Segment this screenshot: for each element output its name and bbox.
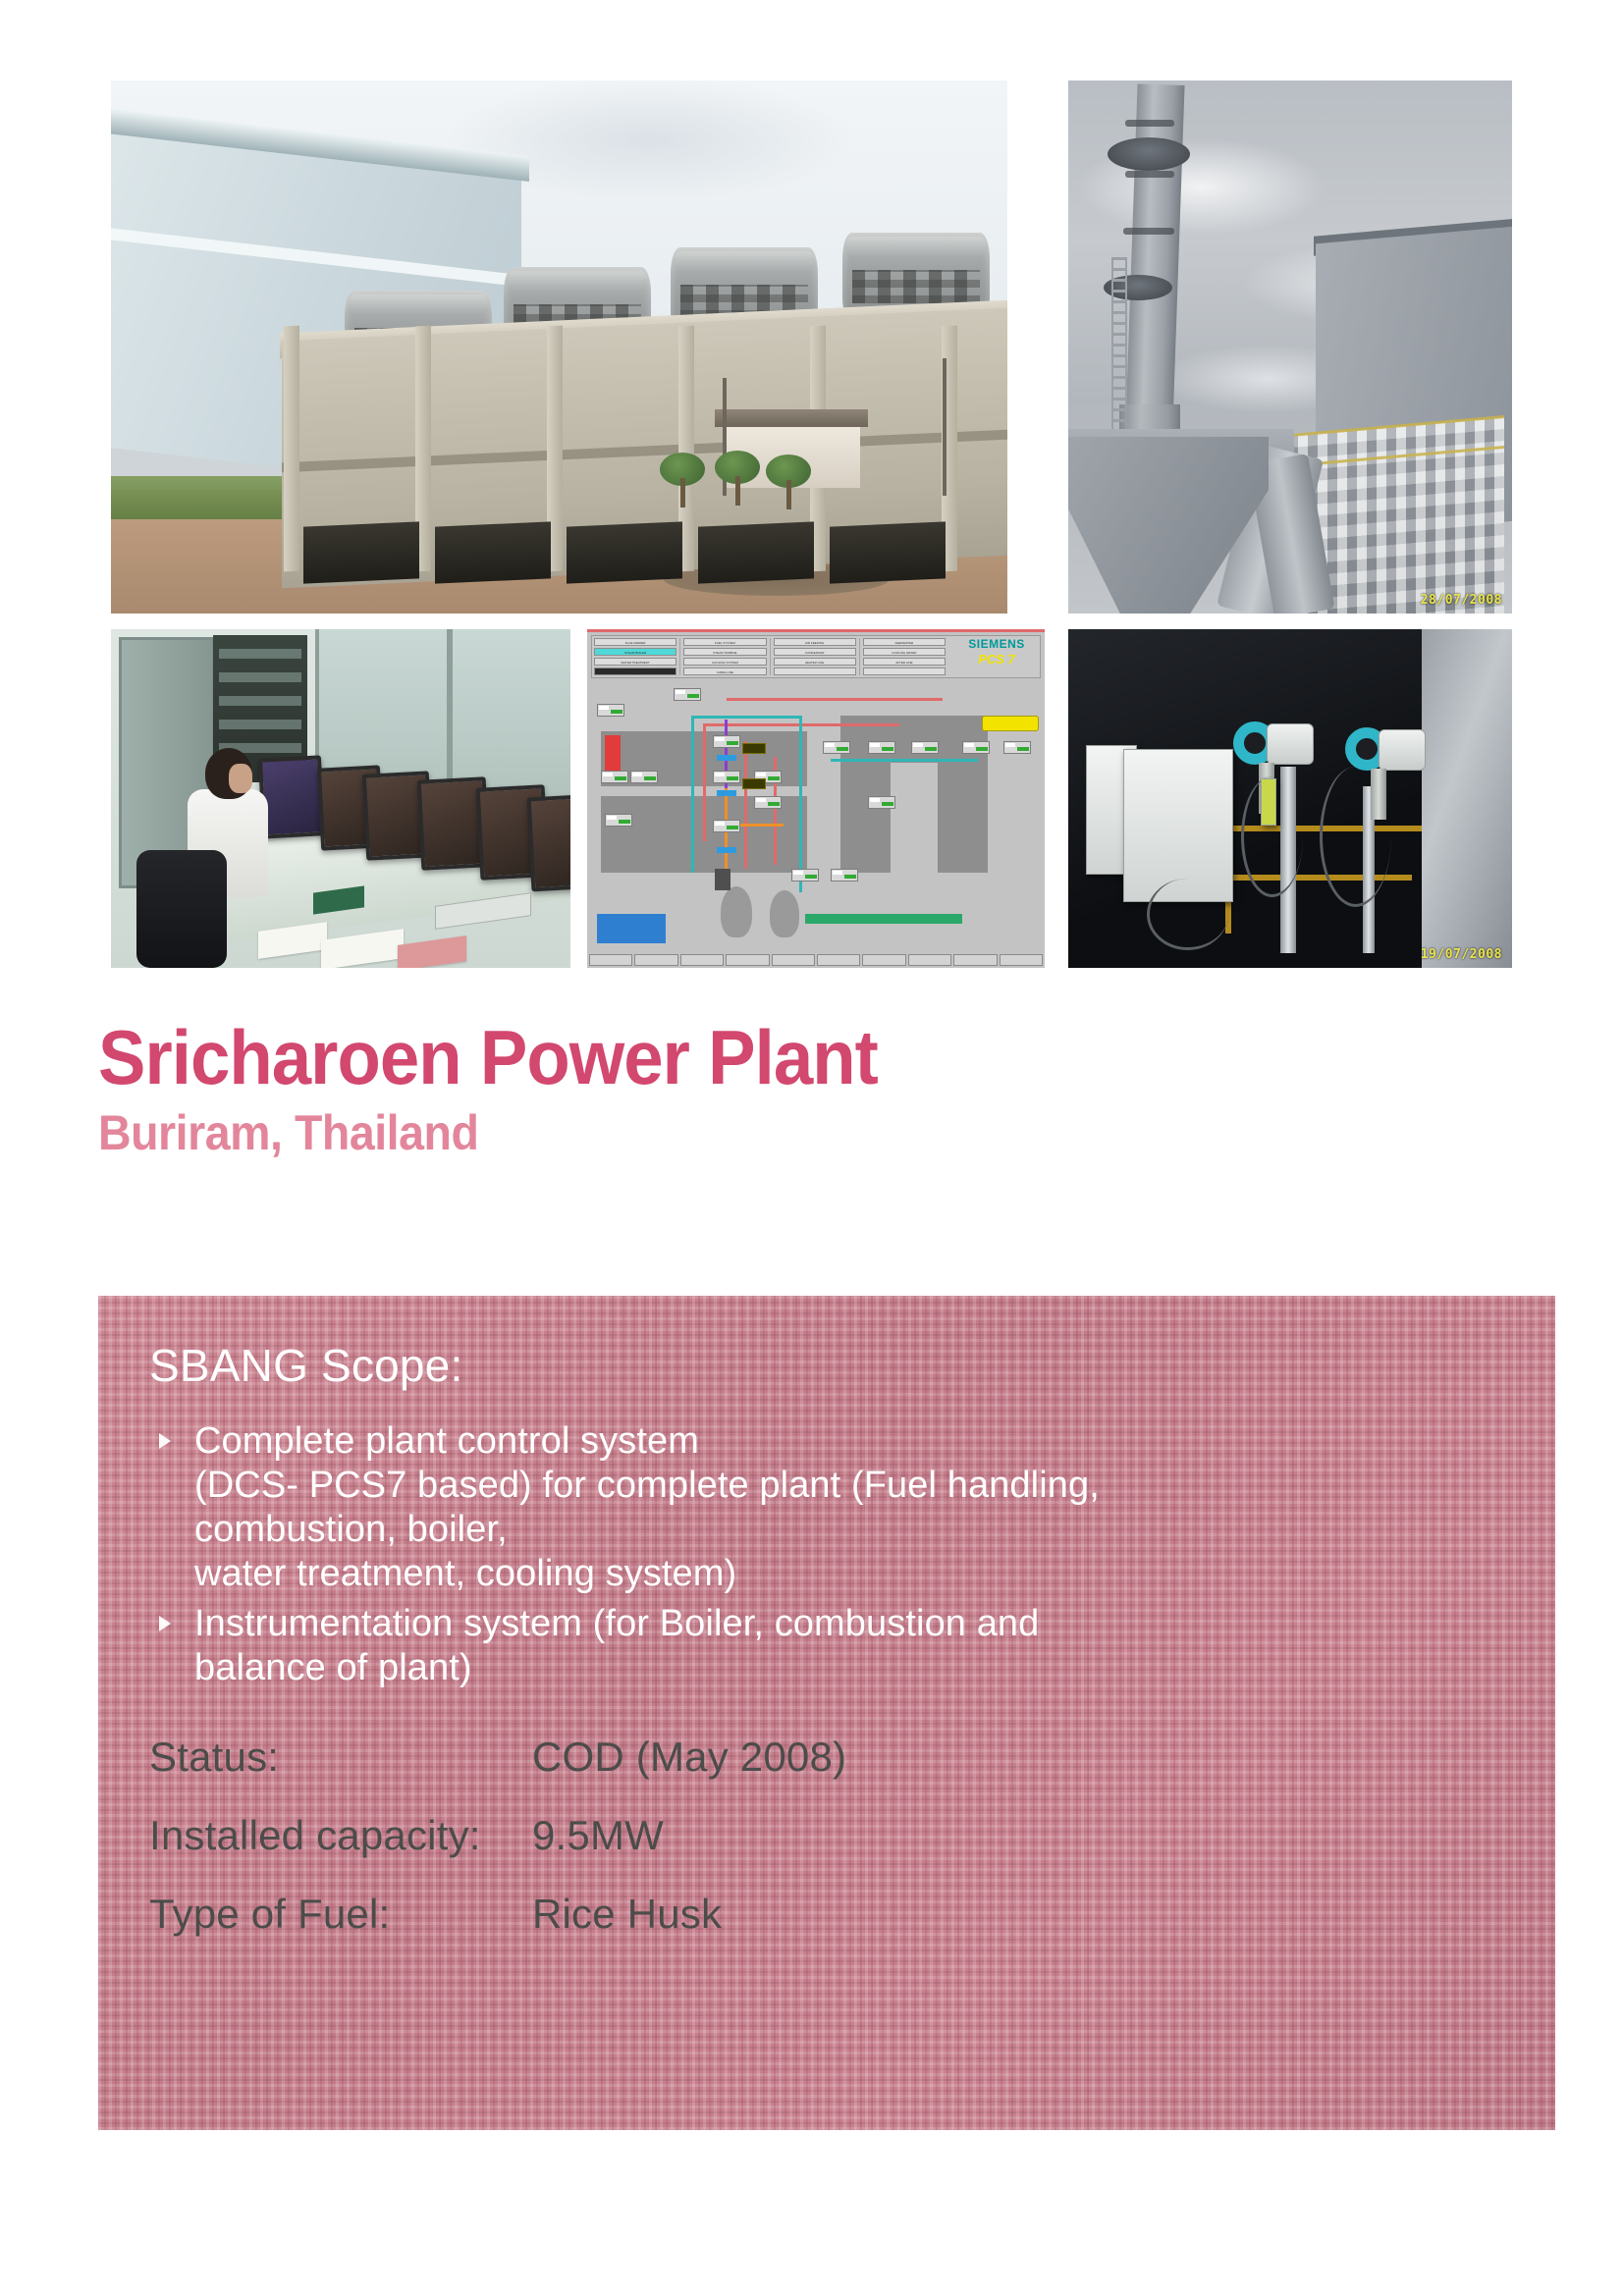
hmi-tag[interactable] <box>911 741 939 754</box>
hmi-pipe-teal-1 <box>691 716 694 873</box>
fact-value: 9.5MW <box>532 1812 664 1859</box>
scope-bullet-2: Instrumentation system (for Boiler, comb… <box>149 1602 1504 1690</box>
hmi-nav-button[interactable]: CABLE LINE <box>683 667 766 675</box>
stack-photo: 28/07/2008 <box>1068 80 1512 614</box>
cooling-tower-photo <box>111 80 1007 614</box>
hmi-tag[interactable] <box>713 820 740 832</box>
hmi-valve-indicator <box>717 755 736 761</box>
hmi-tag[interactable] <box>823 741 850 754</box>
siemens-branding: SIEMENS PCS 7 <box>954 637 1039 667</box>
fact-label: Installed capacity: <box>149 1812 532 1859</box>
scope-bullet-list: Complete plant control system (DCS- PCS7… <box>149 1419 1504 1690</box>
hmi-stack-graphic <box>840 716 988 873</box>
siemens-wordmark: SIEMENS <box>954 637 1039 651</box>
tower-bay-2 <box>435 521 551 583</box>
hmi-value-readout <box>742 778 766 789</box>
hmi-pipe-red-2 <box>703 723 706 841</box>
tower-bay-1 <box>303 521 419 583</box>
hmi-pipe-teal-2 <box>691 716 799 719</box>
pcs7-wordmark: PCS 7 <box>954 652 1039 667</box>
instrumentation-scene: 19/07/2008 <box>1068 629 1512 968</box>
fact-row-capacity: Installed capacity: 9.5MW <box>149 1812 1504 1859</box>
hmi-tag[interactable] <box>713 771 740 783</box>
metal-wall-panel <box>1422 629 1512 968</box>
tower-bay-3 <box>567 521 682 583</box>
hmi-alarm-indicator <box>605 735 621 774</box>
operator-face <box>229 764 252 793</box>
title-block: Sricharoen Power Plant Buriram, Thailand <box>98 1017 1473 1160</box>
hmi-nav-button[interactable]: UTILITY <box>594 667 676 675</box>
fact-label: Status: <box>149 1734 532 1781</box>
monitor-1 <box>258 755 325 838</box>
scope-bullet-1-line-1: Complete plant control system <box>194 1419 1504 1464</box>
hmi-process-graphic <box>587 680 1045 968</box>
scope-bullet-2-line-1: Instrumentation system (for Boiler, comb… <box>194 1602 1504 1646</box>
hmi-valve-indicator <box>717 790 736 796</box>
hmi-tag[interactable] <box>630 771 658 783</box>
fact-row-fuel: Type of Fuel: Rice Husk <box>149 1891 1504 1938</box>
control-room-photo <box>111 629 570 968</box>
hmi-basin <box>597 914 666 943</box>
hmi-pipe-red-3 <box>744 741 747 869</box>
fact-value: COD (May 2008) <box>532 1734 846 1781</box>
scope-heading: SBANG Scope: <box>149 1339 1504 1392</box>
hmi-scene: FLUE FEEDER STEAM BOILER WATER TREATMENT… <box>587 629 1045 968</box>
page-title: Sricharoen Power Plant <box>98 1017 1377 1097</box>
tower-column-1 <box>284 326 299 572</box>
hmi-nav-button[interactable]: AFTER LINE <box>863 658 946 666</box>
hmi-faceplate[interactable] <box>680 954 724 966</box>
tower-bay-4 <box>698 521 814 583</box>
hmi-valve-indicator <box>717 847 736 853</box>
hmi-nav-button[interactable]: AIR FEEDING <box>774 638 856 646</box>
chimney-ring-3 <box>1123 228 1174 235</box>
scope-bullet-2-line-2: balance of plant) <box>194 1646 1504 1690</box>
hmi-nav-button[interactable]: FEEDWATER <box>863 638 946 646</box>
hmi-tag[interactable] <box>605 814 632 827</box>
hmi-tag[interactable] <box>713 735 740 748</box>
hmi-faceplate[interactable] <box>589 954 632 966</box>
fact-table: Status: COD (May 2008) Installed capacit… <box>149 1734 1504 1938</box>
hmi-nav-group-4: FEEDWATER COOLING WATER AFTER LINE <box>863 638 948 675</box>
scope-bullet-1-line-4: water treatment, cooling system) <box>194 1552 1504 1596</box>
hmi-pipe-teal-3 <box>799 716 802 892</box>
hmi-nav-button-selected[interactable]: STEAM BOILER <box>594 648 676 656</box>
hmi-faceplate[interactable] <box>862 954 905 966</box>
hmi-alarm-bar <box>587 629 1045 632</box>
transmitter-head <box>1379 729 1426 771</box>
hmi-tag[interactable] <box>831 869 858 881</box>
hmi-nav-button[interactable]: WATER TREATMENT <box>594 658 676 666</box>
hmi-faceplate[interactable] <box>1000 954 1043 966</box>
hmi-nav-group-2: FUEL SYSTEM STEAM TURBINE COOLING SYSTEM… <box>683 638 770 675</box>
fact-label: Type of Fuel: <box>149 1891 532 1938</box>
tree-1 <box>766 453 811 509</box>
instrument-cable-2 <box>1320 767 1391 907</box>
hmi-faceplate[interactable] <box>908 954 951 966</box>
triangle-bullet-icon <box>159 1616 171 1631</box>
hmi-nav-button[interactable]: STEAM TURBINE <box>683 648 766 656</box>
triangle-bullet-icon <box>159 1433 171 1449</box>
tree-2 <box>715 449 760 506</box>
scope-panel: SBANG Scope: Complete plant control syst… <box>98 1296 1555 2130</box>
hmi-faceplate[interactable] <box>726 954 769 966</box>
utility-pole-2 <box>943 358 947 496</box>
scope-bullet-1-line-3: combustion, boiler, <box>194 1508 1504 1552</box>
hmi-faceplate-strip <box>589 954 1043 966</box>
chimney-ring-1 <box>1125 120 1174 127</box>
hmi-nav-button[interactable] <box>774 667 856 675</box>
hmi-tag[interactable] <box>868 741 895 754</box>
hmi-value-readout <box>742 743 766 754</box>
hmi-nav-button[interactable]: HEATER LINE <box>774 658 856 666</box>
hmi-nav-button[interactable]: FUEL SYSTEM <box>683 638 766 646</box>
hmi-nav-group-3: AIR FEEDING CONDENSOR HEATER LINE <box>774 638 860 675</box>
fact-row-status: Status: COD (May 2008) <box>149 1734 1504 1781</box>
slide-page: 28/07/2008 <box>0 0 1623 2296</box>
hmi-nav-button[interactable]: COOLING SYSTEM <box>683 658 766 666</box>
photo-timestamp: 28/07/2008 <box>1421 593 1502 608</box>
chimney-ring-2 <box>1125 171 1174 178</box>
photo-timestamp: 19/07/2008 <box>1421 947 1502 962</box>
control-room-scene <box>111 629 570 968</box>
hmi-tag[interactable] <box>597 704 624 717</box>
hmi-faceplate[interactable] <box>817 954 860 966</box>
hmi-nav-button[interactable]: CONDENSOR <box>774 648 856 656</box>
hmi-faceplate[interactable] <box>772 954 815 966</box>
hmi-pipe-red-5 <box>727 698 943 701</box>
hmi-conveyor <box>805 914 962 924</box>
instrument-cable-3 <box>1147 879 1228 950</box>
hmi-tag[interactable] <box>601 771 628 783</box>
hmi-nav-button[interactable]: COOLING WATER <box>863 648 946 656</box>
tower-bay-5 <box>830 521 946 583</box>
page-subtitle: Buriram, Thailand <box>98 1105 1377 1160</box>
transmitter-head <box>1267 723 1314 765</box>
hmi-tag[interactable] <box>754 796 782 809</box>
dcs-hmi-screenshot: FLUE FEEDER STEAM BOILER WATER TREATMENT… <box>587 629 1045 968</box>
office-chair <box>136 850 227 968</box>
hmi-pipe-orange-2 <box>734 824 784 827</box>
tree-3 <box>660 451 705 507</box>
hmi-pipe-teal-4 <box>831 759 978 762</box>
hmi-tag[interactable] <box>674 688 701 701</box>
hmi-faceplate[interactable] <box>634 954 677 966</box>
monitor-6 <box>527 795 570 892</box>
hmi-vessel-2 <box>770 890 799 937</box>
stack-scene: 28/07/2008 <box>1068 80 1512 614</box>
hmi-nav-button[interactable] <box>863 667 946 675</box>
cooling-tower-scene <box>111 80 1007 614</box>
scope-bullet-1: Complete plant control system (DCS- PCS7… <box>149 1419 1504 1596</box>
fact-value: Rice Husk <box>532 1891 722 1938</box>
chimney-platform-1 <box>1108 137 1190 171</box>
hmi-tag[interactable] <box>1003 741 1031 754</box>
scope-bullet-1-line-2: (DCS- PCS7 based) for complete plant (Fu… <box>194 1464 1504 1508</box>
hmi-nav-button[interactable]: FLUE FEEDER <box>594 638 676 646</box>
hmi-nav-group-1: FLUE FEEDER STEAM BOILER WATER TREATMENT… <box>594 638 680 675</box>
instrumentation-photo: 19/07/2008 <box>1068 629 1512 968</box>
hmi-tag[interactable] <box>868 796 895 809</box>
hmi-column <box>715 869 730 890</box>
hmi-faceplate[interactable] <box>953 954 997 966</box>
hmi-vessel-1 <box>721 886 752 937</box>
hmi-tag[interactable] <box>962 741 990 754</box>
hmi-status-banner <box>982 716 1039 731</box>
level-gauge <box>1261 778 1276 826</box>
hmi-tag[interactable] <box>791 869 819 881</box>
